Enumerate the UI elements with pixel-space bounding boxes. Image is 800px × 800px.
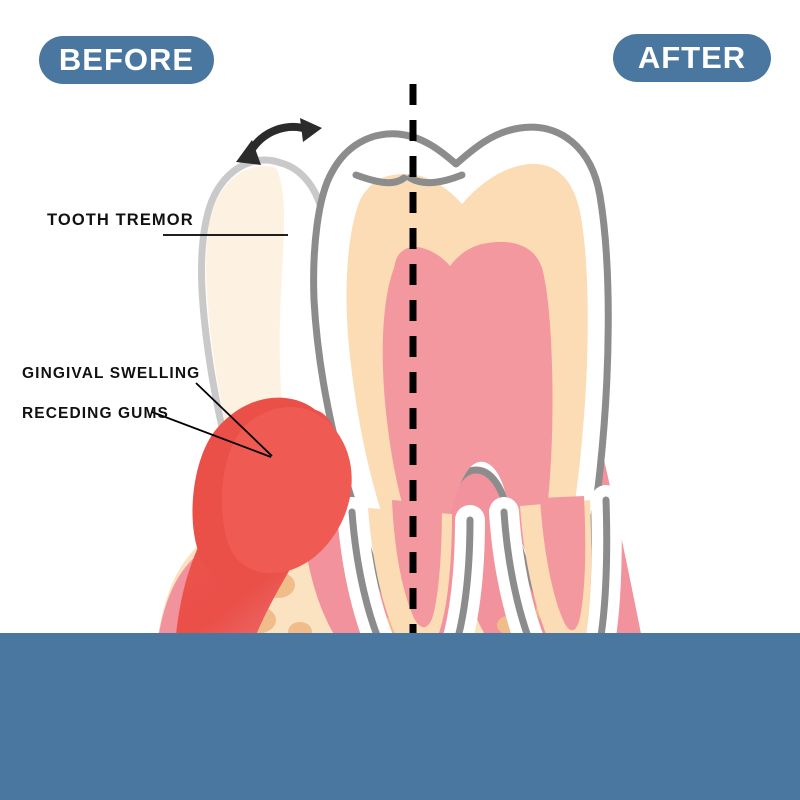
tooth-tremor-arrow	[236, 118, 322, 165]
badge-before-label: BEFORE	[59, 42, 194, 78]
badge-after: AFTER	[613, 34, 771, 82]
infographic-canvas: BEFORE AFTER TOOTH TREMOR GINGIVAL SWELL…	[0, 0, 800, 800]
benefits-banner: TREATS ALL RELATED GUM DISEASES STABILIZ…	[0, 633, 800, 800]
annotation-gingival-swelling: GINGIVAL SWELLING	[22, 365, 200, 383]
annotation-tooth-tremor: TOOTH TREMOR	[47, 211, 194, 230]
badge-before: BEFORE	[39, 36, 214, 84]
annotation-receding-gums: RECEDING GUMS	[22, 405, 169, 423]
badge-after-label: AFTER	[638, 40, 746, 76]
